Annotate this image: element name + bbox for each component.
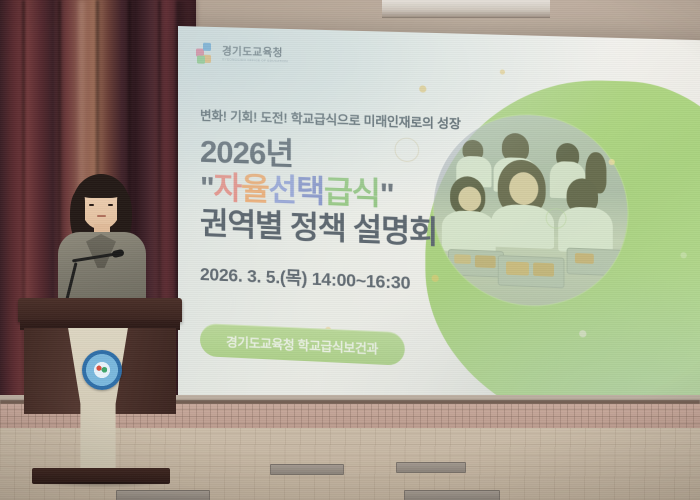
department-badge: 경기도교육청 학교급식보건과 [200, 323, 405, 366]
title-char: 선 [269, 172, 297, 208]
decor-ring [546, 208, 567, 229]
decor-dot [680, 252, 686, 258]
slide-text-block: 변화! 기회! 도전! 학교급식으로 미래인재로의 성장 2026년 "자율선택… [200, 105, 506, 299]
decor-dot [609, 159, 615, 165]
projection-screen: 경기도교육청 GYEONGGIDO OFFICE OF EDUCATION 변화… [178, 26, 700, 431]
lectern-shadow [26, 482, 178, 490]
decor-dot [500, 69, 505, 74]
decor-dot [419, 85, 426, 92]
logo-mark-icon [196, 43, 217, 65]
slide-title-subject: 권역별 정책 설명회 [200, 208, 506, 251]
school-emblem-icon [82, 350, 122, 390]
logo-name-kr: 경기도교육청 [222, 46, 288, 58]
lectern-group [18, 232, 186, 500]
slide-tagline: 변화! 기회! 도전! 학교급식으로 미래인재로의 성장 [200, 105, 506, 134]
quote-close: " [380, 176, 394, 212]
organization-logo: 경기도교육청 GYEONGGIDO OFFICE OF EDUCATION [196, 43, 288, 67]
title-char: 자 [214, 170, 241, 206]
projector-screen-housing [382, 0, 550, 18]
title-char: 율 [241, 171, 269, 207]
slide-content: 경기도교육청 GYEONGGIDO OFFICE OF EDUCATION 변화… [178, 26, 700, 431]
floor-plate [404, 490, 500, 500]
decor-dot [579, 330, 586, 338]
title-char: 택 [296, 173, 324, 209]
title-char: 급 [324, 174, 352, 210]
quote-open: " [200, 170, 214, 206]
auditorium-photo: 경기도교육청 GYEONGGIDO OFFICE OF EDUCATION 변화… [0, 0, 700, 500]
slide-datetime: 2026. 3. 5.(목) 14:00~16:30 [200, 261, 506, 299]
logo-name-en: GYEONGGIDO OFFICE OF EDUCATION [222, 58, 288, 63]
title-char: 식 [352, 175, 380, 211]
floor-plate [396, 462, 466, 473]
lectern-top [18, 298, 182, 322]
floor-plate [270, 464, 344, 475]
